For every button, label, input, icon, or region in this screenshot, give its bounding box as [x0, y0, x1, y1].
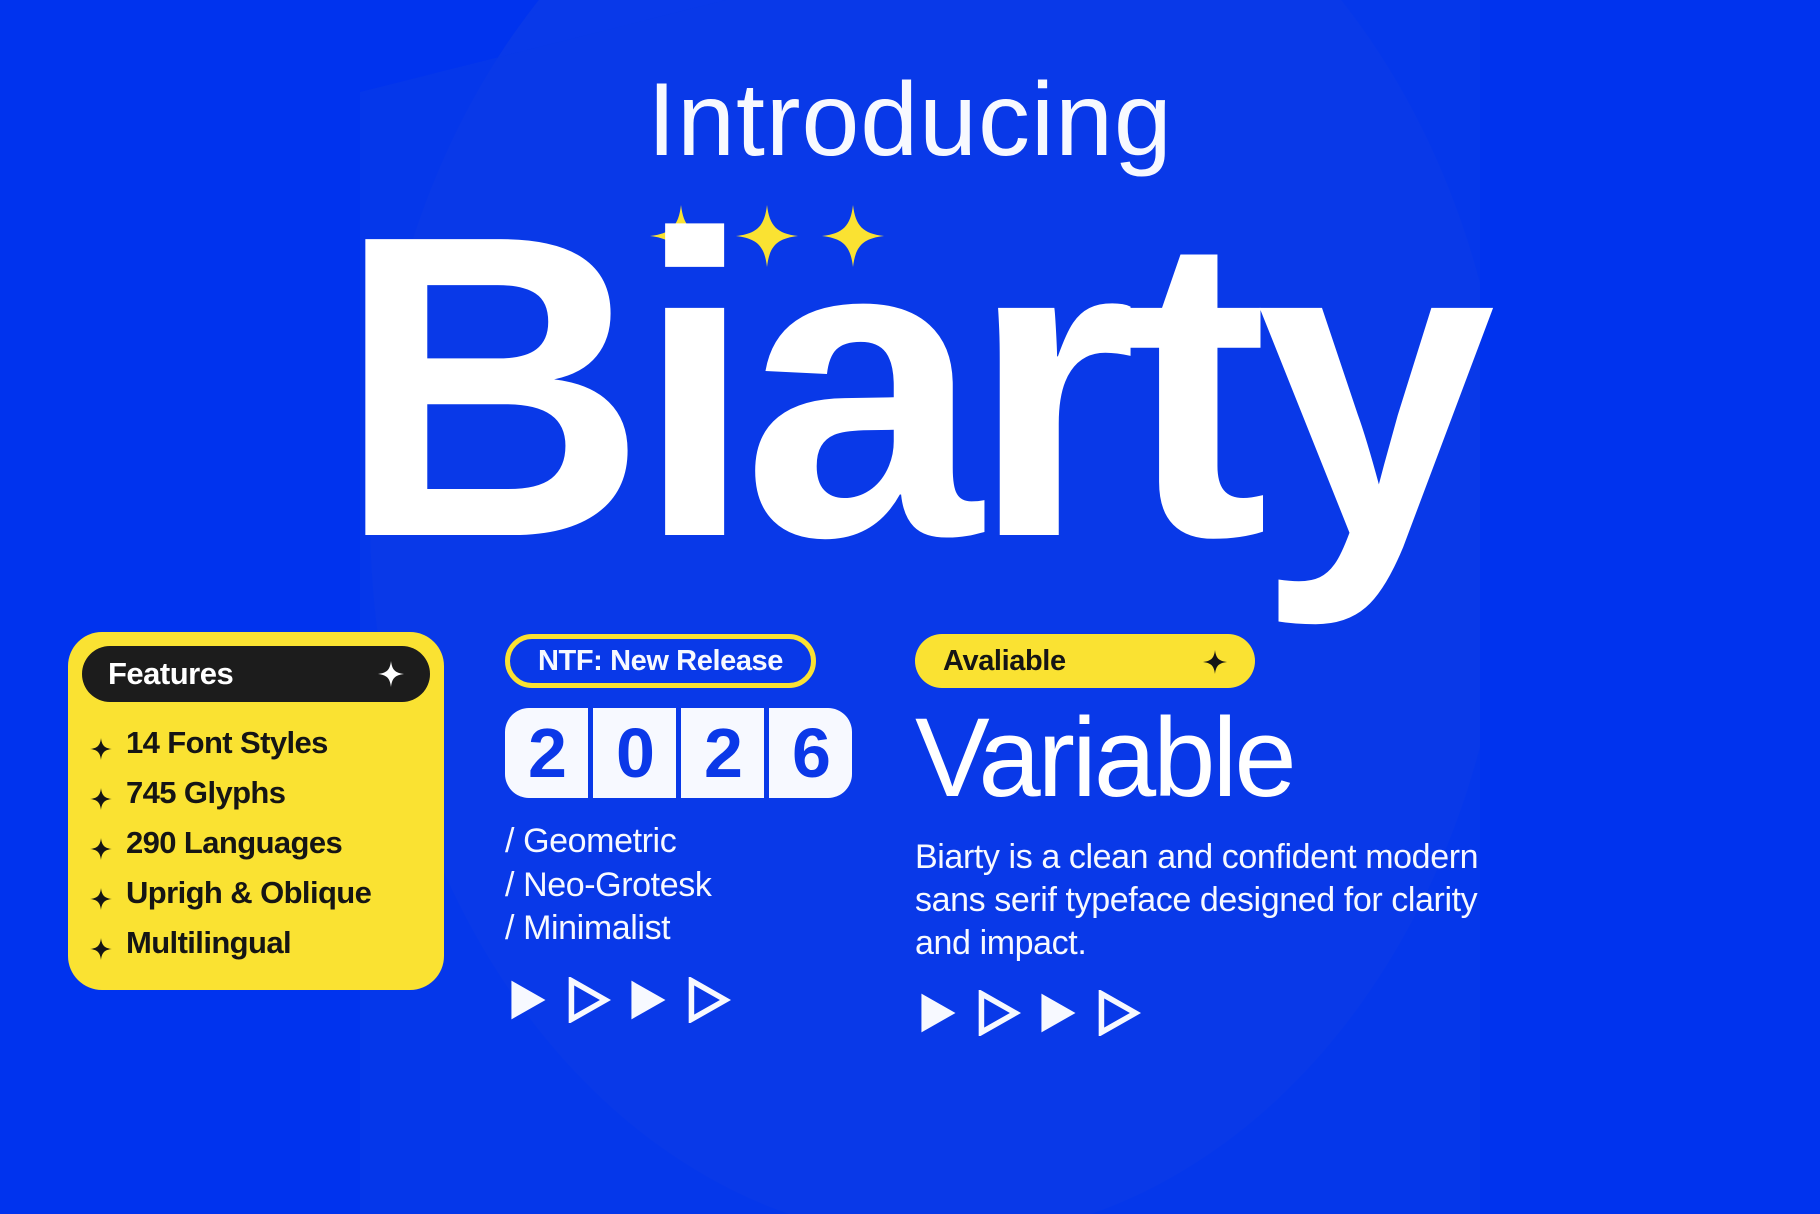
sparkle-icon: [90, 882, 112, 904]
arrow-row-right: [915, 990, 1515, 1036]
features-list: 14 Font Styles 745 Glyphs 290 Languages: [82, 718, 430, 968]
feature-label: 745 Glyphs: [126, 775, 285, 811]
play-arrow-filled-icon: [1035, 990, 1081, 1036]
variable-headline: Variable: [915, 702, 1515, 814]
year-digit: 0: [593, 708, 676, 798]
features-card: Features 14 Font Styles 745 Glyphs: [68, 632, 444, 990]
release-column: NTF: New Release 2 0 2 6 / Geometric / N…: [505, 634, 875, 1023]
style-tags: / Geometric / Neo-Grotesk / Minimalist: [505, 820, 875, 951]
play-arrow-filled-icon: [625, 977, 671, 1023]
list-item: 290 Languages: [90, 818, 430, 868]
sparkle-icon: [90, 832, 112, 854]
sparkle-icon: [378, 661, 404, 687]
style-tag: / Geometric: [505, 820, 875, 864]
list-item: Uprigh & Oblique: [90, 868, 430, 918]
year-digit: 2: [505, 708, 588, 798]
feature-label: 290 Languages: [126, 825, 342, 861]
sparkle-icon: [90, 932, 112, 954]
available-badge: Avaliable: [915, 634, 1255, 688]
style-tag: / Neo-Grotesk: [505, 864, 875, 908]
info-columns: Features 14 Font Styles 745 Glyphs: [0, 624, 1820, 1214]
list-item: 14 Font Styles: [90, 718, 430, 768]
play-arrow-outline-icon: [1095, 990, 1141, 1036]
play-arrow-outline-icon: [685, 977, 731, 1023]
available-column: Avaliable Variable Biarty is a clean and…: [915, 634, 1515, 1036]
list-item: 745 Glyphs: [90, 768, 430, 818]
sparkle-icon: [90, 732, 112, 754]
year-display: 2 0 2 6: [505, 708, 875, 798]
arrow-row-left: [505, 977, 875, 1023]
play-arrow-filled-icon: [505, 977, 551, 1023]
list-item: Multilingual: [90, 918, 430, 968]
poster-canvas: Introducing Biarty Features: [0, 0, 1820, 1214]
year-digit: 6: [769, 708, 852, 798]
year-digit: 2: [681, 708, 764, 798]
feature-label: Uprigh & Oblique: [126, 875, 371, 911]
sparkle-icon: [90, 782, 112, 804]
play-arrow-outline-icon: [565, 977, 611, 1023]
feature-label: 14 Font Styles: [126, 725, 328, 761]
wordmark-biarty: Biarty: [0, 172, 1820, 602]
features-title: Features: [108, 656, 233, 692]
play-arrow-filled-icon: [915, 990, 961, 1036]
style-tag: / Minimalist: [505, 907, 875, 951]
play-arrow-outline-icon: [975, 990, 1021, 1036]
description-text: Biarty is a clean and confident modern s…: [915, 836, 1495, 964]
available-badge-label: Avaliable: [943, 645, 1066, 678]
release-badge: NTF: New Release: [505, 634, 816, 688]
sparkle-icon: [1203, 649, 1227, 673]
features-header: Features: [82, 646, 430, 702]
feature-label: Multilingual: [126, 925, 291, 961]
